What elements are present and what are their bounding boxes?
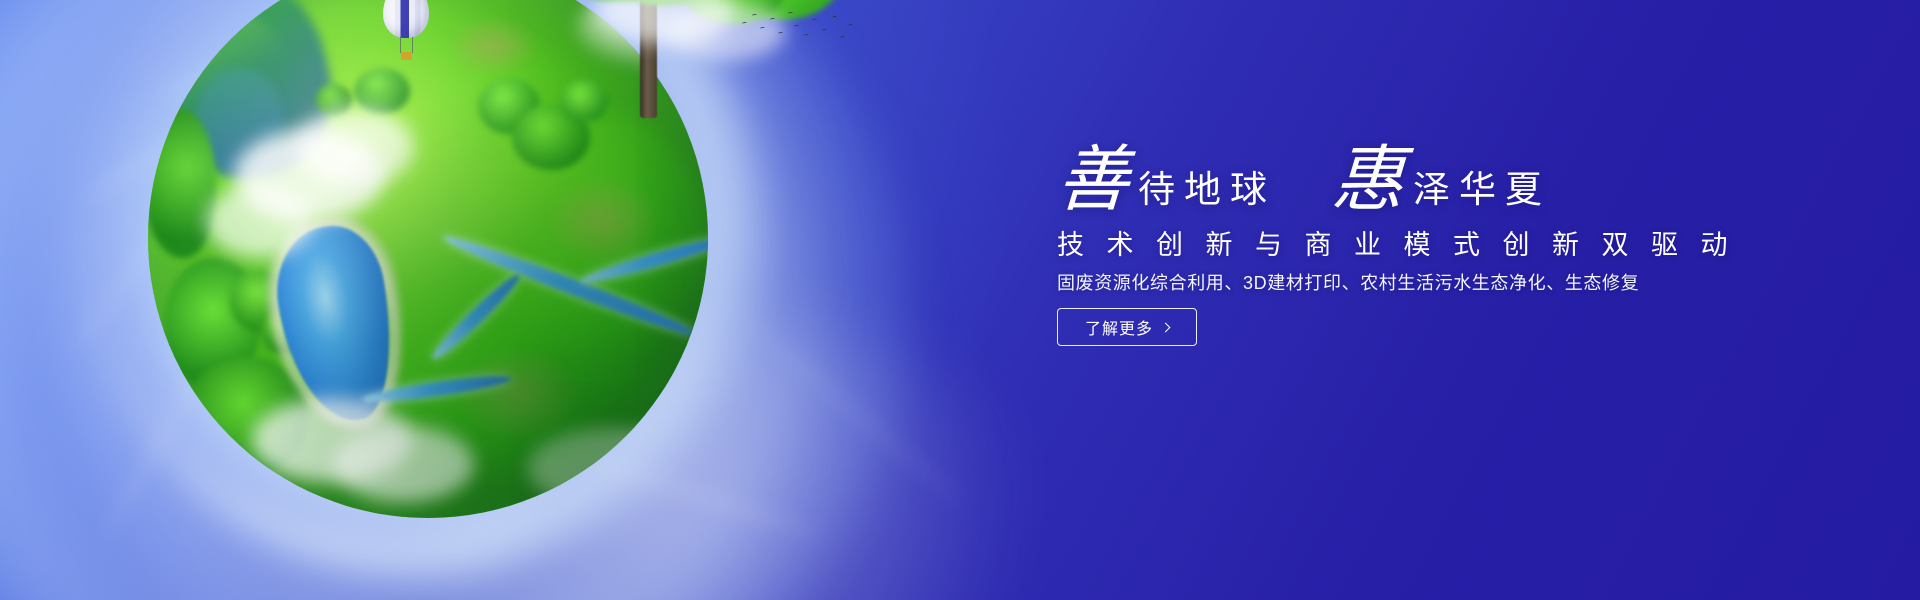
tree-cluster (478, 78, 540, 134)
grass-texture (448, 108, 708, 368)
balloon-envelope (383, 0, 429, 38)
bird-icon (742, 22, 747, 26)
headline-phrase-1: 待地球 (1129, 152, 1276, 230)
earth-patch (548, 178, 658, 264)
banner-tagline: 固废资源化综合利用、3D建材打印、农村生活污水生态净化、生态修复 (1057, 270, 1639, 296)
hot-air-balloon (383, 0, 429, 66)
bird-icon (822, 29, 827, 33)
cloud-puff (528, 428, 698, 508)
headline-char-1: 善 (1055, 141, 1131, 219)
balloon-basket (401, 52, 412, 60)
forest-cluster (164, 258, 262, 388)
bird-icon (794, 25, 799, 29)
mountain-ridge (196, 68, 282, 176)
globe-graphic (148, 0, 708, 518)
bird-flock (740, 8, 860, 50)
banner-subtitle: 技 术 创 新 与 商 业 模 式 创 新 双 驱 动 (1057, 228, 1735, 262)
river (440, 230, 697, 341)
banner-content: 善待地球惠泽华夏 技 术 创 新 与 商 业 模 式 创 新 双 驱 动 固废资… (1057, 0, 1857, 600)
bird-icon (804, 34, 809, 38)
forest-cluster (188, 356, 308, 474)
chevron-right-icon (1161, 322, 1171, 332)
headline-phrase-2: 泽华夏 (1404, 152, 1551, 230)
forest-cluster (148, 108, 216, 258)
cloud-puff (234, 130, 384, 222)
bird-icon (788, 12, 793, 16)
cloud-puff (206, 184, 314, 258)
bird-icon (840, 36, 845, 40)
learn-more-label: 了解更多 (1085, 315, 1153, 339)
bird-icon (848, 24, 853, 28)
hero-banner: 善待地球惠泽华夏 技 术 创 新 与 商 业 模 式 创 新 双 驱 动 固废资… (0, 0, 1920, 600)
bird-icon (760, 27, 765, 31)
tree-cluster (260, 306, 306, 354)
bird-icon (812, 19, 817, 23)
bird-icon (778, 32, 783, 36)
cirrus-streak (730, 305, 969, 509)
bird-icon (752, 14, 757, 18)
tree-cluster (230, 270, 290, 332)
river (428, 270, 524, 363)
headline-char-2: 惠 (1330, 141, 1406, 219)
page-title: 善待地球惠泽华夏 (1057, 141, 1551, 232)
earth-patch (458, 348, 578, 438)
cloud-puff (334, 426, 474, 502)
cloud-puff (252, 398, 412, 482)
bird-icon (770, 18, 775, 22)
cloud-puff (296, 108, 414, 186)
river (579, 234, 708, 288)
tree-cluster (316, 84, 352, 116)
balloon-rope (400, 37, 401, 53)
lake-shoreline (256, 207, 418, 441)
learn-more-button[interactable]: 了解更多 (1057, 308, 1197, 346)
river (362, 372, 512, 407)
earth-patch (448, 18, 538, 74)
bird-icon (832, 16, 837, 20)
lake (267, 219, 404, 429)
tree-cluster (354, 68, 410, 114)
balloon-rope (412, 37, 413, 53)
